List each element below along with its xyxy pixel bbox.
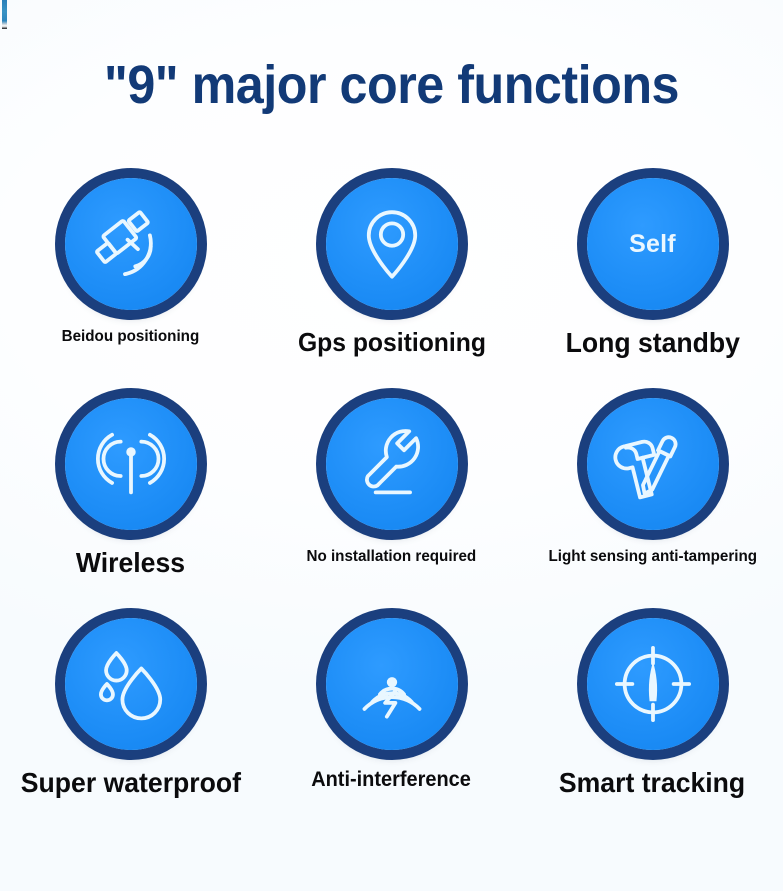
- feature-row: Super waterproof Anti-interference: [0, 618, 783, 848]
- feature-label: Beidou positioning: [62, 328, 200, 346]
- crosshair-compass-icon: [610, 641, 696, 727]
- feature-badge[interactable]: [65, 398, 197, 530]
- feature-row: Wireless No installation required: [0, 398, 783, 618]
- feature-badge[interactable]: [326, 398, 458, 530]
- feature-item-no-installation-required[interactable]: No installation required: [261, 398, 522, 618]
- feature-badge[interactable]: [65, 618, 197, 750]
- feature-label: Gps positioning: [298, 328, 486, 357]
- feature-item-long-standby[interactable]: Self Long standby: [522, 178, 783, 398]
- feature-item-anti-interference[interactable]: Anti-interference: [261, 618, 522, 848]
- hammer-screwdriver-icon: [610, 421, 696, 507]
- feature-grid: Beidou positioning Gps positioning Self …: [0, 178, 783, 848]
- signal-lightning-icon: [349, 641, 435, 727]
- broadcast-antenna-icon: [88, 421, 174, 507]
- feature-label: Super waterproof: [20, 768, 240, 799]
- feature-badge[interactable]: [65, 178, 197, 310]
- feature-item-smart-tracking[interactable]: Smart tracking: [522, 618, 783, 848]
- page-title: "9" major core functions: [27, 54, 755, 116]
- feature-label: Smart tracking: [559, 768, 745, 799]
- feature-item-wireless[interactable]: Wireless: [0, 398, 261, 618]
- map-pin-icon: [349, 201, 435, 287]
- water-drops-icon: [88, 641, 174, 727]
- feature-row: Beidou positioning Gps positioning Self …: [0, 178, 783, 398]
- badge-text-self: Self: [629, 232, 676, 257]
- screen-edge-artifact: [2, 0, 7, 29]
- feature-badge[interactable]: [326, 618, 458, 750]
- feature-label: Long standby: [565, 328, 739, 359]
- satellite-signal-icon: [88, 201, 174, 287]
- infographic-poster: "9" major core functions Beidou position…: [0, 0, 783, 891]
- feature-item-gps-positioning[interactable]: Gps positioning: [261, 178, 522, 398]
- feature-badge[interactable]: [587, 618, 719, 750]
- wrench-icon: [349, 421, 435, 507]
- hammer-screwdriver-badge[interactable]: [587, 398, 719, 530]
- feature-label: No installation required: [307, 548, 477, 566]
- feature-badge[interactable]: [326, 178, 458, 310]
- feature-label: Wireless: [76, 548, 185, 579]
- feature-badge[interactable]: Self: [587, 178, 719, 310]
- feature-label: Light sensing anti-tampering: [548, 548, 757, 566]
- feature-item-beidou-positioning[interactable]: Beidou positioning: [0, 178, 261, 398]
- feature-item-super-waterproof[interactable]: Super waterproof: [0, 618, 261, 848]
- feature-item-light-sensing-anti-tampering[interactable]: Light sensing anti-tampering: [522, 398, 783, 618]
- feature-label: Anti-interference: [312, 768, 472, 791]
